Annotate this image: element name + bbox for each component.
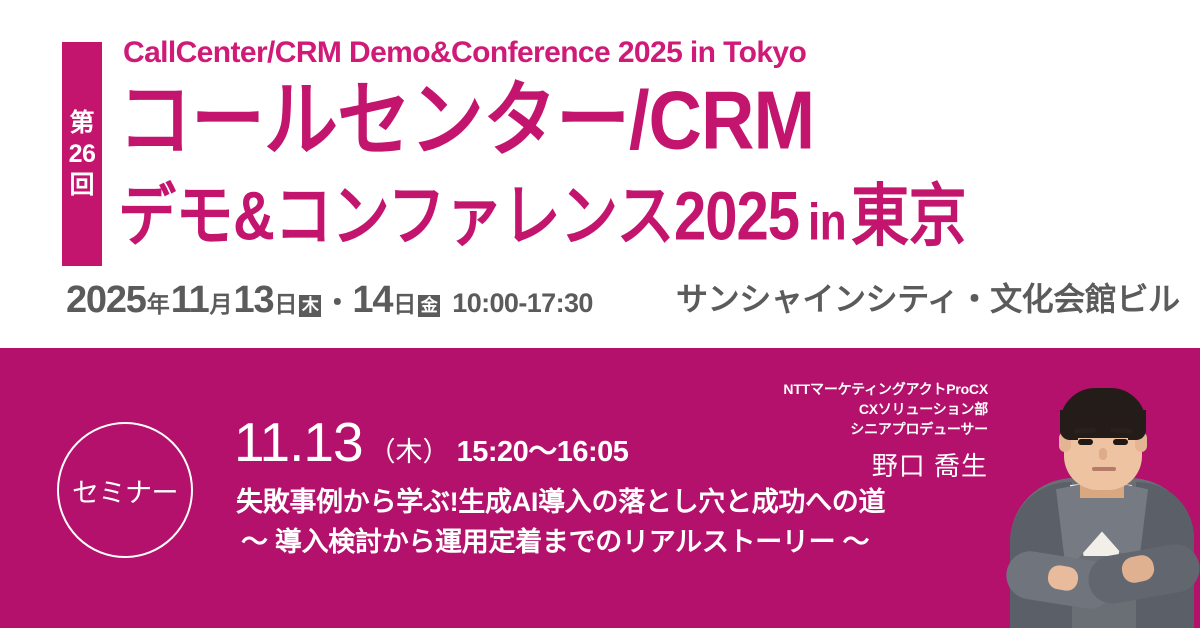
edition-badge: 第 26 回 — [62, 42, 102, 266]
session-title: 失敗事例から学ぶ!生成AI導入の落とし穴と成功への道 — [236, 489, 885, 516]
edition-kanji: 第 — [69, 111, 94, 136]
event-day-2: 14 — [352, 281, 392, 319]
photo-mouth — [1092, 467, 1116, 471]
day-of-week-badge-thursday: 木 — [299, 295, 321, 317]
seminar-badge: セミナー — [57, 422, 193, 558]
event-venue: サンシャインシティ・文化会館ビル — [676, 282, 1180, 317]
event-year: 2025 — [66, 281, 146, 319]
session-datetime: 11.13（木）15:20〜16:05 — [234, 415, 628, 470]
speaker-org-line-1: NTTマーケティングアクトProCX — [783, 380, 988, 400]
session-day-of-week: （木） — [363, 439, 450, 466]
event-title-line-2: デモ&コンファレンス2025in東京 — [118, 183, 966, 251]
speaker-name: 野口 喬生 — [783, 453, 988, 479]
photo-eye-left — [1078, 439, 1093, 445]
speaker-photo — [1004, 370, 1200, 628]
photo-nose — [1099, 448, 1107, 460]
event-title-city: 東京 — [851, 178, 966, 255]
event-hours: 10:00-17:30 — [441, 290, 593, 317]
event-month: 11 — [171, 281, 209, 319]
session-time: 15:20〜16:05 — [450, 438, 629, 467]
event-title-in: in — [799, 194, 851, 252]
edition-suffix: 回 — [69, 173, 94, 198]
event-month-unit: 月 — [209, 293, 234, 316]
day-of-week-badge-friday: 金 — [418, 295, 440, 317]
photo-hair-side-right — [1128, 410, 1146, 440]
event-day-1: 13 — [234, 281, 274, 319]
speaker-org-line-2: CXソリューション部 — [783, 400, 988, 420]
event-info-row: 2025年11月13日木・14日金10:00-17:30 サンシャインシティ・文… — [0, 281, 1200, 327]
event-day-1-unit: 日 — [273, 293, 298, 316]
event-title-line-1: コールセンター/CRM — [118, 79, 814, 162]
event-title-year: 2025 — [674, 178, 799, 255]
speaker-info: NTTマーケティングアクトProCX CXソリューション部 シニアプロデューサー… — [783, 380, 988, 479]
event-title-line-2-main: デモ&コンファレンス — [118, 178, 674, 255]
event-banner: 第 26 回 CallCenter/CRM Demo&Conference 20… — [0, 0, 1200, 628]
event-date-block: 2025年11月13日木・14日金10:00-17:30 — [66, 281, 593, 319]
date-separator: ・ — [322, 289, 352, 317]
session-subtitle: 〜 導入検討から運用定着までのリアルストーリー 〜 — [241, 529, 869, 556]
event-english-title: CallCenter/CRM Demo&Conference 2025 in T… — [123, 38, 806, 68]
photo-eye-right — [1113, 439, 1128, 445]
session-date: 11.13 — [234, 415, 363, 470]
photo-hair-side-left — [1060, 410, 1078, 440]
seminar-badge-label: セミナー — [72, 471, 178, 510]
edition-number: 26 — [69, 142, 96, 167]
event-year-unit: 年 — [146, 293, 171, 316]
speaker-org-line-3: シニアプロデューサー — [783, 420, 988, 440]
header-section: 第 26 回 CallCenter/CRM Demo&Conference 20… — [0, 0, 1200, 348]
event-day-2-unit: 日 — [392, 293, 417, 316]
